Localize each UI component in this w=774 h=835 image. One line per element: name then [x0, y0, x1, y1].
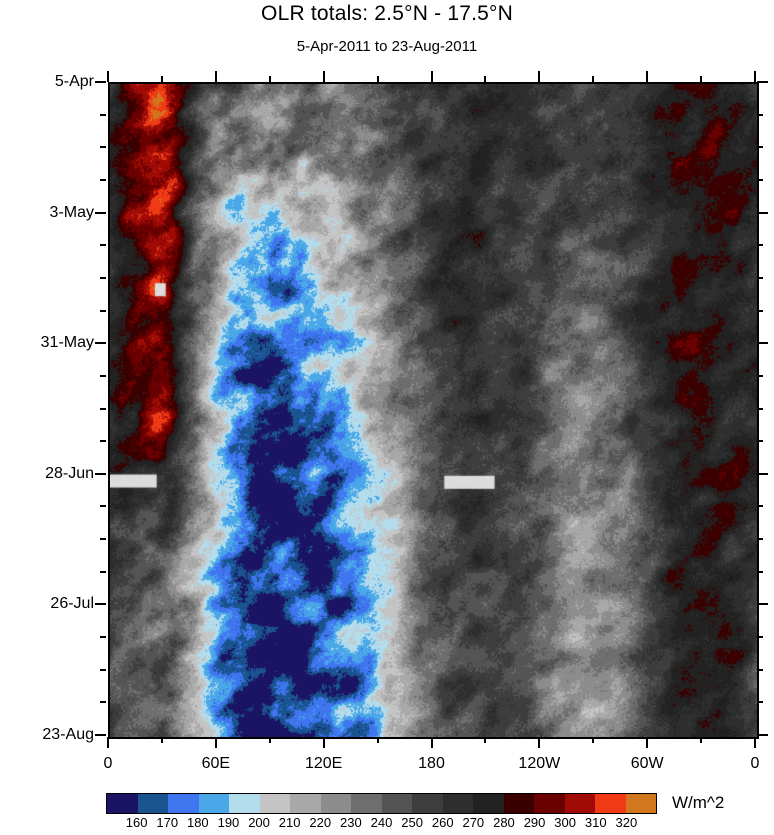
y-minor-tick — [100, 669, 106, 671]
colorbar-tick-label: 220 — [309, 815, 331, 830]
y-minor-tick — [100, 538, 106, 540]
hovmoller-plot-frame — [108, 82, 759, 739]
x-minor-tick — [161, 737, 163, 743]
y-minor-tick — [100, 440, 106, 442]
x-major-tick-top — [538, 71, 540, 82]
colorbar-cell — [443, 794, 474, 813]
page-subtitle: 5-Apr-2011 to 23-Aug-2011 — [0, 38, 774, 55]
colorbar-tick-label: 310 — [585, 815, 607, 830]
x-minor-tick — [377, 737, 379, 743]
x-major-tick — [538, 737, 540, 748]
y-minor-tick — [100, 114, 106, 116]
colorbar-cell — [504, 794, 535, 813]
colorbar-tick-label: 180 — [187, 815, 209, 830]
hovmoller-heatmap — [110, 84, 757, 737]
colorbar-tick-label: 200 — [248, 815, 270, 830]
colorbar-cell — [412, 794, 443, 813]
x-minor-tick-top — [484, 76, 486, 82]
colorbar-cell — [107, 794, 138, 813]
x-major-tick-top — [754, 71, 756, 82]
y-axis-tick-label: 31-May — [41, 334, 94, 352]
y-minor-tick — [100, 375, 106, 377]
colorbar-cell — [595, 794, 626, 813]
colorbar-tick-label: 250 — [401, 815, 423, 830]
x-minor-tick-top — [377, 76, 379, 82]
colorbar-cell — [168, 794, 199, 813]
y-major-tick-right — [757, 473, 768, 475]
y-minor-tick-right — [757, 571, 763, 573]
x-major-tick — [107, 737, 109, 748]
y-minor-tick-right — [757, 440, 763, 442]
y-axis-tick-label: 28-Jun — [45, 465, 94, 483]
y-minor-tick — [100, 571, 106, 573]
x-axis-tick-label: 0 — [751, 755, 760, 773]
x-minor-tick — [700, 737, 702, 743]
colorbar-tick-label: 210 — [279, 815, 301, 830]
x-major-tick-top — [323, 71, 325, 82]
y-major-tick — [95, 342, 106, 344]
x-major-tick-top — [107, 71, 109, 82]
y-major-tick — [95, 212, 106, 214]
colorbar-tick-label: 260 — [432, 815, 454, 830]
y-minor-tick — [100, 310, 106, 312]
x-minor-tick — [592, 737, 594, 743]
x-minor-tick — [484, 737, 486, 743]
y-axis-tick-label: 3-May — [50, 204, 94, 222]
y-minor-tick — [100, 277, 106, 279]
colorbar — [106, 793, 657, 814]
x-major-tick-top — [431, 71, 433, 82]
x-major-tick — [215, 737, 217, 748]
y-major-tick-right — [757, 342, 768, 344]
y-axis-tick-label: 26-Jul — [50, 595, 94, 613]
colorbar-cell — [260, 794, 291, 813]
x-axis-tick-label: 180 — [418, 755, 445, 773]
y-minor-tick-right — [757, 310, 763, 312]
y-minor-tick — [100, 179, 106, 181]
y-minor-tick-right — [757, 244, 763, 246]
colorbar-cell — [382, 794, 413, 813]
page-title: OLR totals: 2.5°N - 17.5°N — [0, 2, 774, 26]
y-axis-tick-label: 5-Apr — [55, 73, 94, 91]
colorbar-cell — [229, 794, 260, 813]
colorbar-tick-label: 270 — [462, 815, 484, 830]
x-minor-tick-top — [592, 76, 594, 82]
colorbar-cell — [290, 794, 321, 813]
y-minor-tick-right — [757, 408, 763, 410]
y-major-tick-right — [757, 212, 768, 214]
x-major-tick-top — [646, 71, 648, 82]
y-major-tick-right — [757, 734, 768, 736]
y-minor-tick-right — [757, 114, 763, 116]
x-axis-tick-label: 0 — [104, 755, 113, 773]
colorbar-cell — [565, 794, 596, 813]
y-minor-tick-right — [757, 669, 763, 671]
y-minor-tick-right — [757, 277, 763, 279]
y-minor-tick — [100, 636, 106, 638]
x-minor-tick — [269, 737, 271, 743]
colorbar-cell — [138, 794, 169, 813]
colorbar-tick-label: 190 — [218, 815, 240, 830]
colorbar-cell — [534, 794, 565, 813]
x-axis-tick-label: 60E — [202, 755, 230, 773]
x-major-tick — [323, 737, 325, 748]
y-major-tick — [95, 734, 106, 736]
y-major-tick-right — [757, 81, 768, 83]
y-major-tick — [95, 81, 106, 83]
y-minor-tick-right — [757, 375, 763, 377]
y-minor-tick — [100, 701, 106, 703]
colorbar-tick-label: 280 — [493, 815, 515, 830]
colorbar-tick-label: 290 — [524, 815, 546, 830]
colorbar-tick-label: 240 — [371, 815, 393, 830]
x-major-tick-top — [215, 71, 217, 82]
colorbar-cell — [473, 794, 504, 813]
y-minor-tick-right — [757, 701, 763, 703]
y-minor-tick-right — [757, 505, 763, 507]
x-axis-tick-label: 120W — [518, 755, 560, 773]
x-minor-tick-top — [269, 76, 271, 82]
colorbar-tick-label: 300 — [554, 815, 576, 830]
y-minor-tick — [100, 146, 106, 148]
y-minor-tick — [100, 244, 106, 246]
colorbar-cell — [321, 794, 352, 813]
colorbar-tick-label: 160 — [126, 815, 148, 830]
y-minor-tick-right — [757, 636, 763, 638]
y-major-tick — [95, 473, 106, 475]
colorbar-cell — [199, 794, 230, 813]
x-major-tick — [754, 737, 756, 748]
x-minor-tick-top — [700, 76, 702, 82]
x-axis-tick-label: 120E — [305, 755, 342, 773]
y-major-tick-right — [757, 603, 768, 605]
x-major-tick — [431, 737, 433, 748]
y-minor-tick — [100, 505, 106, 507]
colorbar-cell — [351, 794, 382, 813]
y-axis-labels: 5-Apr3-May31-May28-Jun26-Jul23-Aug — [0, 0, 94, 834]
y-major-tick — [95, 603, 106, 605]
x-major-tick — [646, 737, 648, 748]
x-axis-tick-label: 60W — [631, 755, 664, 773]
x-minor-tick-top — [161, 76, 163, 82]
colorbar-units-label: W/m^2 — [672, 793, 724, 813]
colorbar-tick-label: 230 — [340, 815, 362, 830]
y-minor-tick — [100, 408, 106, 410]
colorbar-tick-labels: 1601701801902002102202302402502602702802… — [106, 815, 657, 835]
colorbar-tick-label: 170 — [156, 815, 178, 830]
y-axis-tick-label: 23-Aug — [42, 726, 94, 744]
colorbar-cell — [626, 794, 657, 813]
y-minor-tick-right — [757, 146, 763, 148]
y-minor-tick-right — [757, 179, 763, 181]
y-minor-tick-right — [757, 538, 763, 540]
colorbar-tick-label: 320 — [616, 815, 638, 830]
